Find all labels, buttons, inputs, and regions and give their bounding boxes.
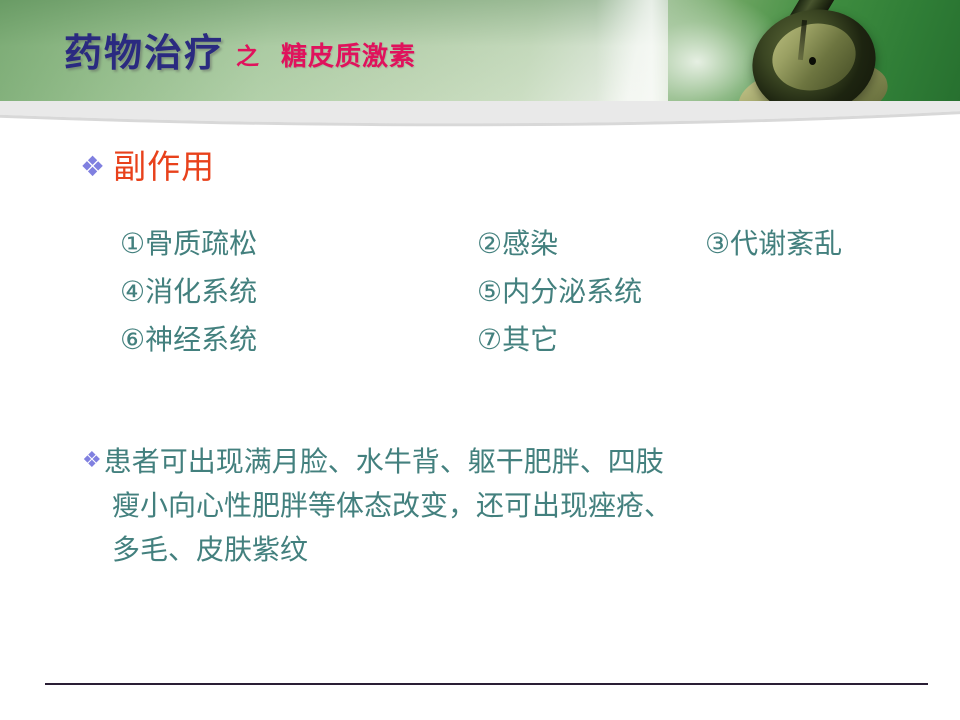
effect-item-1: ①骨质疏松 — [120, 220, 477, 268]
effect-item-7: ⑦其它 — [477, 316, 705, 364]
paragraph-line-2: 瘦小向心性肥胖等体态改变，还可出现痤疮、 — [112, 484, 882, 528]
effect-item-3: ③代谢紊乱 — [705, 220, 905, 268]
effect-item-2: ②感染 — [477, 220, 705, 268]
stethoscope-photo — [668, 0, 960, 103]
stethoscope-center-dot — [809, 57, 816, 65]
effect-item-5: ⑤内分泌系统 — [477, 268, 705, 316]
header-curve-divider — [0, 101, 960, 129]
diamond-bullet-icon: ❖ — [80, 153, 105, 181]
slide-header-banner: 药物治疗 之 糖皮质激素 — [0, 0, 960, 103]
list-item: ①骨质疏松②感染③代谢紊乱 — [120, 220, 920, 268]
page-title: 药物治疗 — [64, 34, 224, 72]
title-connector: 之 — [236, 46, 259, 69]
slide-canvas: 药物治疗 之 糖皮质激素 ❖ 副作用 ①骨质疏松②感染③代谢紊乱 ④消化系统⑤内… — [0, 0, 960, 720]
paragraph-line-3: 多毛、皮肤紫纹 — [112, 528, 882, 572]
list-item: ④消化系统⑤内分泌系统 — [120, 268, 920, 316]
effect-item-6: ⑥神经系统 — [120, 316, 477, 364]
side-effects-list: ①骨质疏松②感染③代谢紊乱 ④消化系统⑤内分泌系统 ⑥神经系统⑦其它 — [120, 220, 920, 364]
section-heading-side-effects: ❖ 副作用 — [80, 150, 215, 183]
list-item: ⑥神经系统⑦其它 — [120, 316, 920, 364]
effect-item-4: ④消化系统 — [120, 268, 477, 316]
footer-divider-line — [45, 683, 928, 685]
paragraph-line-1: 患者可出现满月脸、水牛背、躯干肥胖、四肢 — [104, 445, 664, 478]
page-subtitle: 糖皮质激素 — [281, 44, 416, 70]
header-curve-svg — [0, 101, 960, 129]
diamond-bullet-icon: ❖ — [82, 450, 102, 472]
slide-title-row: 药物治疗 之 糖皮质激素 — [64, 34, 416, 72]
clinical-description-paragraph: ❖患者可出现满月脸、水牛背、躯干肥胖、四肢 瘦小向心性肥胖等体态改变，还可出现痤… — [82, 440, 882, 572]
section-heading-label: 副作用 — [113, 150, 215, 183]
